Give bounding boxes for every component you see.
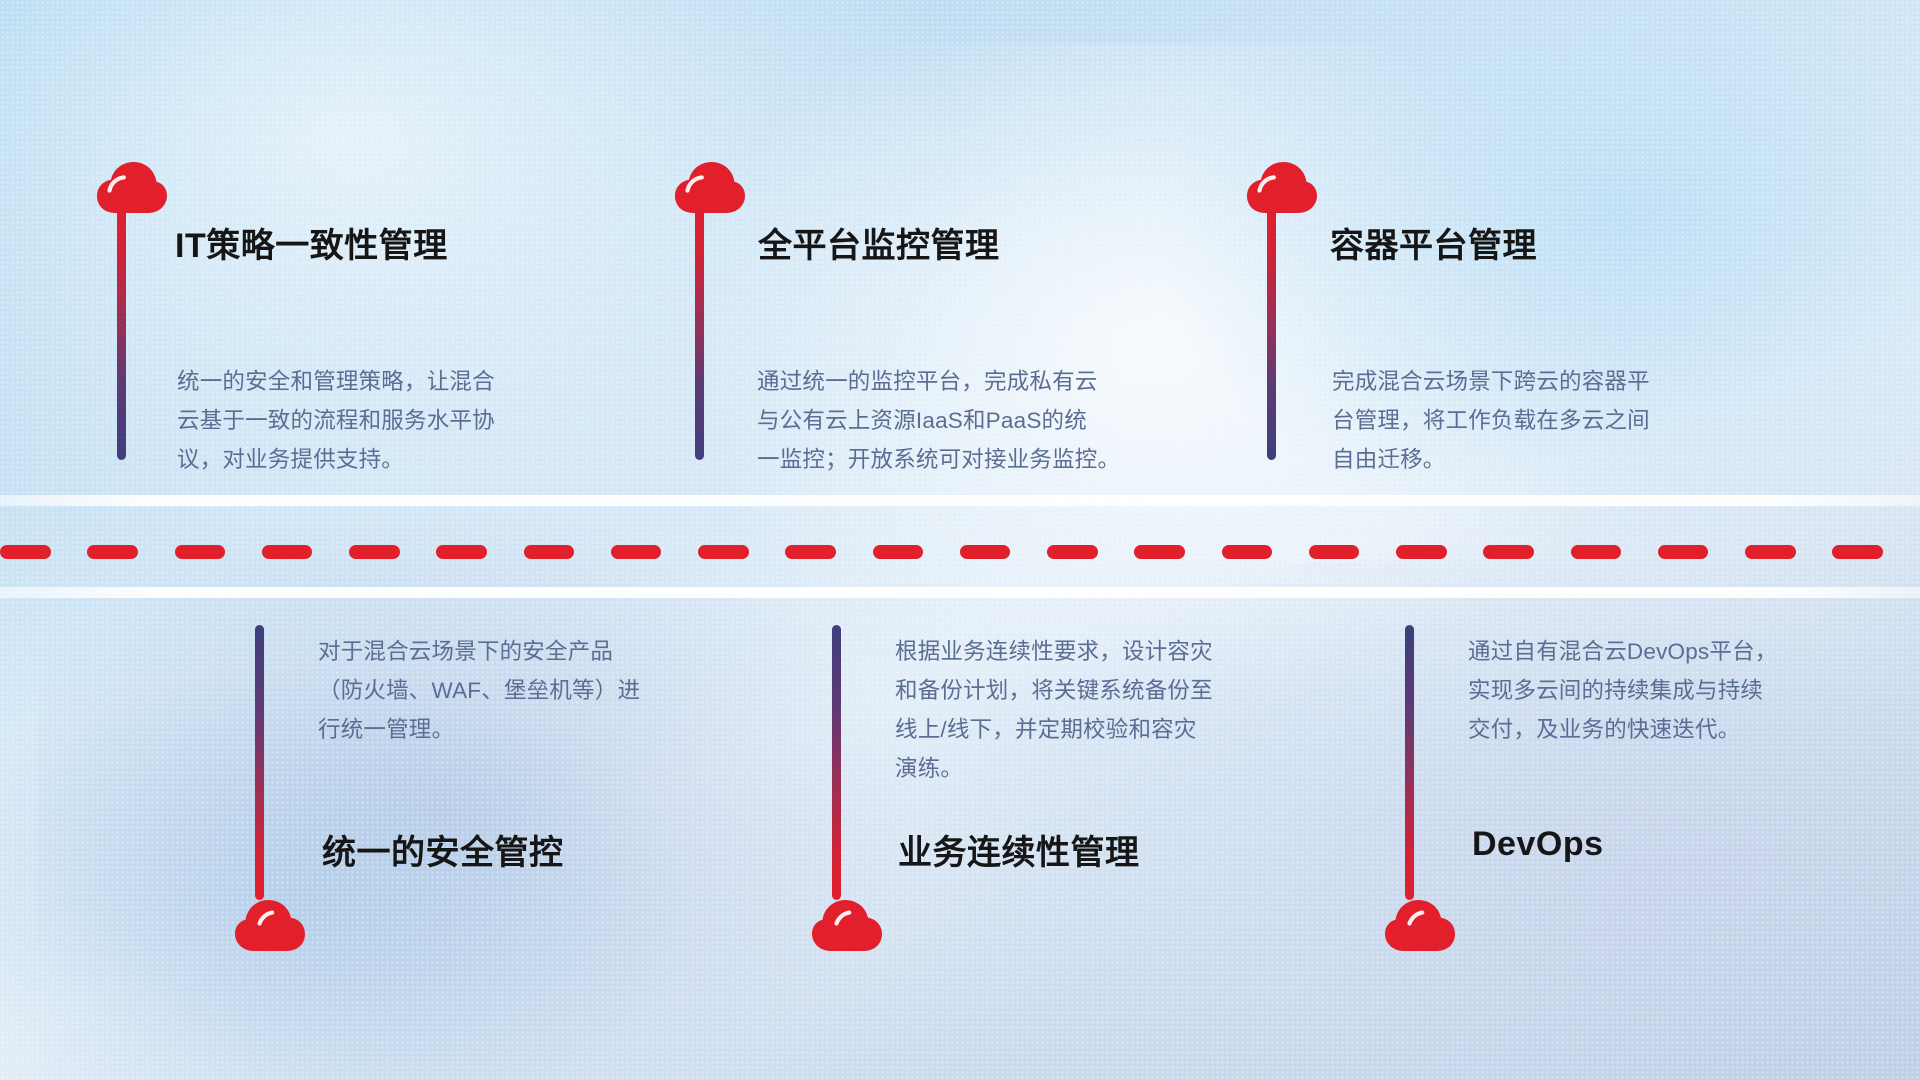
bottom-column-1-title: 统一的安全管控 <box>322 825 564 874</box>
body-line: 根据业务连续性要求，设计容灾 <box>895 632 1213 671</box>
divider-dash <box>262 545 313 559</box>
top-column-2-title: 全平台监控管理 <box>758 218 1000 267</box>
infographic-canvas: IT策略一致性管理 统一的安全和管理策略，让混合 云基于一致的流程和服务水平协 … <box>0 0 1920 1080</box>
divider-dash <box>1745 545 1796 559</box>
top-column-3-title: 容器平台管理 <box>1330 218 1537 267</box>
top-column-2-body: 通过统一的监控平台，完成私有云 与公有云上资源IaaS和PaaS的统 一监控；开… <box>757 362 1120 479</box>
cloud-pin-icon <box>673 160 747 214</box>
divider-dash <box>785 545 836 559</box>
bottom-column-2-body: 根据业务连续性要求，设计容灾 和备份计划，将关键系统备份至 线上/线下，并定期校… <box>895 632 1213 788</box>
cloud-pin-icon <box>810 898 884 952</box>
divider-dash <box>873 545 924 559</box>
divider-dash <box>698 545 749 559</box>
body-line: 和备份计划，将关键系统备份至 <box>895 671 1213 710</box>
body-line: 交付，及业务的快速迭代。 <box>1468 710 1777 749</box>
divider-dash <box>1134 545 1185 559</box>
divider-dash <box>0 545 51 559</box>
body-line: 统一的安全和管理策略，让混合 <box>177 362 495 401</box>
cloud-pin-icon <box>233 898 307 952</box>
pin-stem <box>695 205 704 460</box>
top-column-3-body: 完成混合云场景下跨云的容器平 台管理，将工作负载在多云之间 自由迁移。 <box>1332 362 1650 479</box>
divider-band-bottom <box>0 587 1920 598</box>
divider-dash <box>1571 545 1622 559</box>
body-line: 与公有云上资源IaaS和PaaS的统 <box>757 401 1120 440</box>
divider-dashed-line <box>0 545 1920 559</box>
body-line: 云基于一致的流程和服务水平协 <box>177 401 495 440</box>
divider-dash <box>960 545 1011 559</box>
body-line: 自由迁移。 <box>1332 440 1650 479</box>
bottom-column-1-body: 对于混合云场景下的安全产品 （防火墙、WAF、堡垒机等）进 行统一管理。 <box>318 632 640 749</box>
body-line: 实现多云间的持续集成与持续 <box>1468 671 1777 710</box>
body-line: 线上/线下，并定期校验和容灾 <box>895 710 1213 749</box>
body-line: 完成混合云场景下跨云的容器平 <box>1332 362 1650 401</box>
divider-dash <box>349 545 400 559</box>
body-line: 演练。 <box>895 749 1213 788</box>
divider-dash <box>1309 545 1360 559</box>
body-line: 一监控；开放系统可对接业务监控。 <box>757 440 1120 479</box>
body-line: 通过统一的监控平台，完成私有云 <box>757 362 1120 401</box>
divider-dash <box>436 545 487 559</box>
body-line: 议，对业务提供支持。 <box>177 440 495 479</box>
cloud-pin-icon <box>1383 898 1457 952</box>
cloud-pin-icon <box>1245 160 1319 214</box>
body-line: 行统一管理。 <box>318 710 640 749</box>
divider-dash <box>1658 545 1709 559</box>
divider-dash <box>1047 545 1098 559</box>
divider-dash <box>1483 545 1534 559</box>
body-line: 通过自有混合云DevOps平台， <box>1468 632 1777 671</box>
top-column-1-body: 统一的安全和管理策略，让混合 云基于一致的流程和服务水平协 议，对业务提供支持。 <box>177 362 495 479</box>
top-column-1-title: IT策略一致性管理 <box>175 218 448 267</box>
divider-band-top <box>0 495 1920 506</box>
bottom-column-2-title: 业务连续性管理 <box>898 825 1140 874</box>
body-line: 对于混合云场景下的安全产品 <box>318 632 640 671</box>
divider-dash <box>1396 545 1447 559</box>
divider-dash <box>175 545 226 559</box>
bottom-column-3-body: 通过自有混合云DevOps平台， 实现多云间的持续集成与持续 交付，及业务的快速… <box>1468 632 1777 749</box>
divider-dash <box>611 545 662 559</box>
divider-dash <box>1832 545 1883 559</box>
cloud-pin-icon <box>95 160 169 214</box>
pin-stem <box>255 625 264 900</box>
bottom-column-3-title: DevOps <box>1472 825 1604 864</box>
pin-stem <box>117 205 126 460</box>
body-line: 台管理，将工作负载在多云之间 <box>1332 401 1650 440</box>
pin-stem <box>1405 625 1414 900</box>
body-line: （防火墙、WAF、堡垒机等）进 <box>318 671 640 710</box>
divider-dash <box>1222 545 1273 559</box>
pin-stem <box>832 625 841 900</box>
divider-dash <box>87 545 138 559</box>
pin-stem <box>1267 205 1276 460</box>
divider-dash <box>524 545 575 559</box>
